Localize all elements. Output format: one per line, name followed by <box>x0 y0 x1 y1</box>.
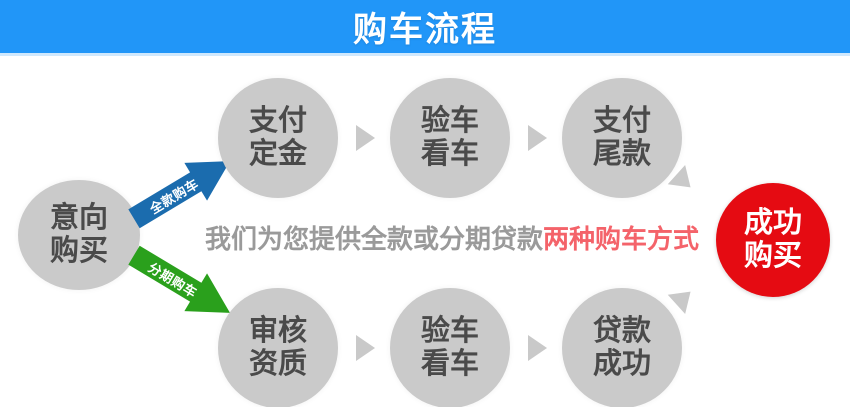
buying-process-infographic: 购车流程 意向 购买 全款购车 分期购车 支付 定金 验车 看车 支付 尾款 审… <box>0 0 850 407</box>
arrow-bottom-2-to-3-icon <box>528 335 547 361</box>
node-top-step-1-line2: 定金 <box>249 138 307 171</box>
node-bottom-step-2-line2: 看车 <box>421 348 479 381</box>
node-top-step-3-line1: 支付 <box>593 105 651 138</box>
node-bottom-step-1-line1: 审核 <box>249 315 307 348</box>
arrow-top-2-to-3-icon <box>528 125 547 151</box>
node-bottom-step-1: 审核 资质 <box>218 288 338 407</box>
node-top-step-2-line1: 验车 <box>421 105 479 138</box>
header-underline <box>0 53 850 56</box>
arrow-bottom-to-success-icon <box>668 282 700 314</box>
caption-red-text: 两种购车方式 <box>543 219 699 256</box>
caption-gray-text: 我们为您提供全款或分期贷款 <box>205 219 543 256</box>
node-bottom-step-2: 验车 看车 <box>390 288 510 407</box>
node-top-step-3: 支付 尾款 <box>562 78 682 198</box>
node-bottom-step-1-line2: 资质 <box>249 348 307 381</box>
node-purchase-success: 成功 购买 <box>716 183 830 297</box>
node-purchase-success-line2: 购买 <box>744 240 802 273</box>
node-top-step-3-line2: 尾款 <box>593 138 651 171</box>
node-intent-to-buy-line2: 购买 <box>50 235 108 268</box>
node-bottom-step-3-line2: 成功 <box>593 348 651 381</box>
arrow-bottom-1-to-2-icon <box>356 335 375 361</box>
node-purchase-success-line1: 成功 <box>744 207 802 240</box>
arrow-top-1-to-2-icon <box>356 125 375 151</box>
page-title: 购车流程 <box>0 0 850 53</box>
center-caption: 我们为您提供全款或分期贷款两种购车方式 <box>205 219 685 255</box>
node-top-step-2-line2: 看车 <box>421 138 479 171</box>
node-bottom-step-3-line1: 贷款 <box>593 315 651 348</box>
node-top-step-2: 验车 看车 <box>390 78 510 198</box>
node-intent-to-buy-line1: 意向 <box>50 202 108 235</box>
node-top-step-1: 支付 定金 <box>218 78 338 198</box>
node-bottom-step-3: 贷款 成功 <box>562 288 682 407</box>
node-top-step-1-line1: 支付 <box>249 105 307 138</box>
node-bottom-step-2-line1: 验车 <box>421 315 479 348</box>
